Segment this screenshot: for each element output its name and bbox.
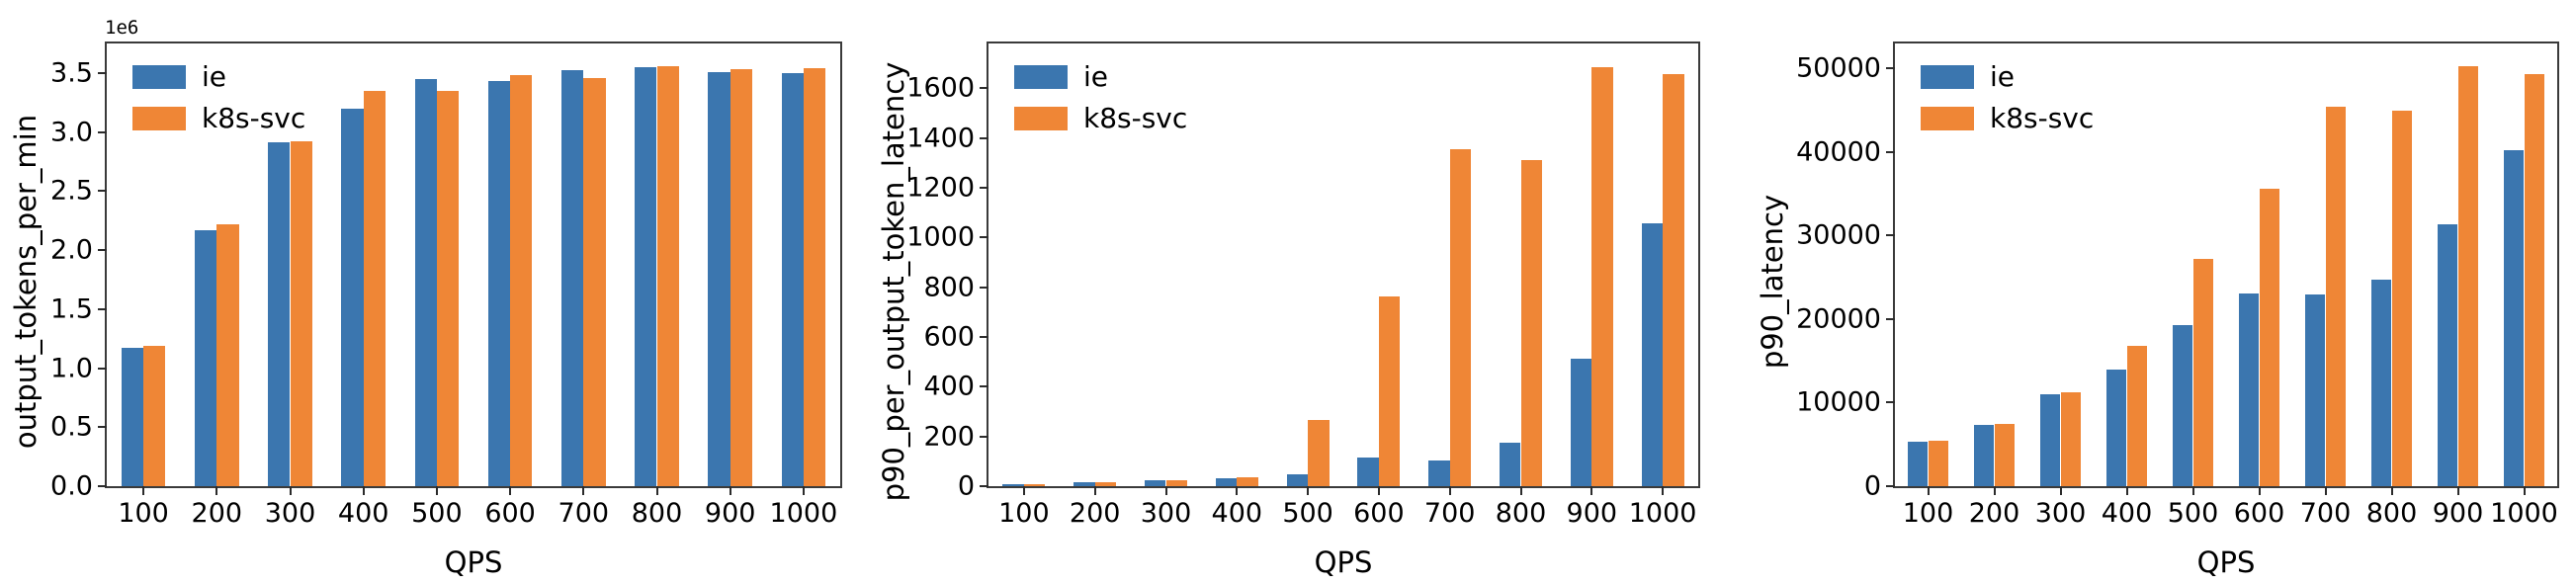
y-tick-label-p1-4: 2.0 xyxy=(50,237,93,264)
plot-area-3: 0100002000030000400005000010020030040050… xyxy=(1893,42,2559,488)
y-tick-label-p2-6: 1200 xyxy=(906,174,975,201)
y-tick-label-p1-7: 3.5 xyxy=(50,59,93,86)
bar-ie-900 xyxy=(2438,224,2457,486)
legend-entry-ie-1: ie xyxy=(132,63,305,91)
bar-ie-900 xyxy=(1571,359,1592,486)
legend-swatch-k8s-svc-2 xyxy=(1014,107,1068,130)
x-tick-label-p1-0: 100 xyxy=(118,500,169,527)
legend-label-k8s-svc-1: k8s-svc xyxy=(202,105,305,132)
bar-ie-100 xyxy=(1002,484,1024,486)
bar-ie-400 xyxy=(1216,478,1238,486)
x-tick-label-p2-7: 800 xyxy=(1496,500,1547,527)
x-tick-p1-0 xyxy=(142,486,144,495)
bar-ie-600 xyxy=(488,81,510,486)
x-tick-p3-3 xyxy=(2126,486,2128,495)
x-tick-label-p1-6: 700 xyxy=(558,500,610,527)
bar-ie-700 xyxy=(561,70,583,486)
y-tick-p1-1 xyxy=(98,426,107,428)
bar-ie-300 xyxy=(2040,394,2060,486)
y-tick-label-p1-3: 1.5 xyxy=(50,295,93,322)
y-tick-p2-3 xyxy=(980,336,988,338)
y-tick-p2-8 xyxy=(980,87,988,89)
y-tick-p2-6 xyxy=(980,187,988,189)
y-tick-p1-0 xyxy=(98,485,107,487)
bar-k8s-svc-300 xyxy=(291,141,312,486)
x-tick-label-p2-2: 300 xyxy=(1141,500,1192,527)
legend-label-ie-3: ie xyxy=(1990,63,2015,91)
bar-ie-500 xyxy=(2173,325,2192,486)
bar-k8s-svc-700 xyxy=(583,78,605,486)
bar-k8s-svc-900 xyxy=(1591,67,1613,486)
bar-ie-900 xyxy=(708,72,730,486)
y-tick-p1-5 xyxy=(98,190,107,192)
legend-entry-ie-3: ie xyxy=(1921,63,2094,91)
plot-area-1: 0.00.51.01.52.02.53.03.51002003004005006… xyxy=(105,42,842,488)
x-tick-p1-3 xyxy=(363,486,365,495)
y-tick-p2-0 xyxy=(980,485,988,487)
x-tick-label-p3-7: 800 xyxy=(2366,500,2418,527)
x-axis-label-2: QPS xyxy=(987,545,1700,579)
y-tick-label-p3-0: 0 xyxy=(1864,473,1881,500)
legend-swatch-k8s-svc-1 xyxy=(132,107,186,130)
x-tick-label-p1-9: 1000 xyxy=(770,500,838,527)
y-axis-label-2: p90_per_output_token_latency xyxy=(877,35,910,529)
legend-label-ie-1: ie xyxy=(202,63,226,91)
x-tick-label-p3-3: 400 xyxy=(2102,500,2153,527)
y-tick-label-p2-5: 1000 xyxy=(906,224,975,251)
y-tick-p2-5 xyxy=(980,236,988,238)
bar-ie-300 xyxy=(268,142,290,486)
bar-ie-500 xyxy=(1287,474,1309,486)
y-tick-label-p1-6: 3.0 xyxy=(50,119,93,145)
bar-k8s-svc-600 xyxy=(1379,296,1401,486)
legend-label-ie-2: ie xyxy=(1083,63,1108,91)
y-tick-p2-2 xyxy=(980,385,988,387)
legend-swatch-k8s-svc-3 xyxy=(1921,107,1974,130)
y-tick-p1-7 xyxy=(98,72,107,74)
bar-ie-700 xyxy=(1428,460,1450,486)
x-tick-p2-4 xyxy=(1307,486,1309,495)
bar-ie-200 xyxy=(1974,425,1994,486)
y-tick-p3-5 xyxy=(1886,67,1895,69)
bar-ie-1000 xyxy=(2504,150,2524,486)
bar-k8s-svc-400 xyxy=(364,91,386,486)
x-tick-p1-9 xyxy=(803,486,805,495)
x-tick-p3-1 xyxy=(1994,486,1996,495)
x-tick-p1-6 xyxy=(582,486,584,495)
bar-k8s-svc-700 xyxy=(2326,107,2346,486)
legend-label-k8s-svc-2: k8s-svc xyxy=(1083,105,1187,132)
x-tick-label-p2-5: 600 xyxy=(1353,500,1405,527)
bar-k8s-svc-300 xyxy=(2061,392,2081,486)
x-tick-p2-3 xyxy=(1236,486,1238,495)
bar-k8s-svc-200 xyxy=(216,224,238,486)
x-tick-label-p2-6: 700 xyxy=(1424,500,1476,527)
bar-ie-500 xyxy=(415,79,437,486)
legend-entry-ie-2: ie xyxy=(1014,63,1187,91)
x-tick-label-p1-8: 900 xyxy=(705,500,756,527)
bar-k8s-svc-500 xyxy=(437,91,459,486)
bar-k8s-svc-800 xyxy=(1521,160,1543,486)
x-tick-label-p1-3: 400 xyxy=(338,500,389,527)
bar-k8s-svc-500 xyxy=(1308,420,1330,486)
x-axis-label-1: QPS xyxy=(105,545,842,579)
x-tick-label-p3-0: 100 xyxy=(1903,500,1954,527)
y-tick-label-p2-7: 1400 xyxy=(906,125,975,151)
bar-ie-300 xyxy=(1145,480,1166,486)
bar-ie-800 xyxy=(1500,443,1521,486)
bar-k8s-svc-100 xyxy=(1024,484,1046,486)
bar-k8s-svc-900 xyxy=(2458,66,2478,486)
x-tick-label-p2-4: 500 xyxy=(1282,500,1333,527)
bar-k8s-svc-300 xyxy=(1166,480,1188,486)
y-tick-label-p3-3: 30000 xyxy=(1796,222,1881,249)
x-tick-p3-9 xyxy=(2524,486,2526,495)
subplot-output-tokens-per-min: 1e6 output_tokens_per_min 0.00.51.01.52.… xyxy=(0,0,858,585)
y-tick-label-p2-4: 800 xyxy=(923,274,975,300)
subplot-p90-per-output-token-latency: p90_per_output_token_latency 02004006008… xyxy=(858,0,1717,585)
y-tick-p3-2 xyxy=(1886,318,1895,320)
y-tick-label-p3-4: 40000 xyxy=(1796,138,1881,165)
x-tick-label-p1-4: 500 xyxy=(411,500,463,527)
bar-ie-400 xyxy=(2106,370,2126,486)
y-tick-label-p1-2: 1.0 xyxy=(50,355,93,381)
y-tick-p3-0 xyxy=(1886,485,1895,487)
x-tick-p2-2 xyxy=(1165,486,1167,495)
bar-k8s-svc-800 xyxy=(2392,111,2412,486)
x-tick-p1-5 xyxy=(509,486,511,495)
legend-label-k8s-svc-3: k8s-svc xyxy=(1990,105,2094,132)
x-tick-label-p3-6: 700 xyxy=(2300,500,2352,527)
bar-k8s-svc-600 xyxy=(2260,189,2279,486)
x-tick-label-p1-2: 300 xyxy=(265,500,316,527)
y-tick-p1-6 xyxy=(98,131,107,133)
x-tick-p2-1 xyxy=(1094,486,1096,495)
legend-swatch-ie-2 xyxy=(1014,65,1068,89)
y-tick-p1-3 xyxy=(98,308,107,310)
x-tick-p1-7 xyxy=(656,486,658,495)
y-tick-p1-4 xyxy=(98,249,107,251)
bar-k8s-svc-500 xyxy=(2193,259,2213,486)
legend-entry-k8s-svc-3: k8s-svc xyxy=(1921,105,2094,132)
y-tick-p3-4 xyxy=(1886,151,1895,153)
x-tick-label-p3-5: 600 xyxy=(2234,500,2285,527)
y-tick-label-p1-0: 0.0 xyxy=(50,473,93,500)
y-tick-p2-1 xyxy=(980,436,988,438)
y-tick-label-p2-3: 600 xyxy=(923,323,975,350)
y-tick-label-p2-0: 0 xyxy=(958,473,975,500)
y-offset-text-1: 1e6 xyxy=(105,17,138,39)
x-tick-p1-4 xyxy=(436,486,438,495)
x-tick-label-p3-4: 500 xyxy=(2168,500,2219,527)
x-tick-label-p3-1: 200 xyxy=(1969,500,2020,527)
bar-k8s-svc-600 xyxy=(510,75,532,486)
y-axis-label-3: p90_latency xyxy=(1756,124,1789,440)
x-tick-label-p2-9: 1000 xyxy=(1629,500,1697,527)
y-axis-label-1: output_tokens_per_min xyxy=(9,64,43,499)
x-tick-label-p3-8: 900 xyxy=(2433,500,2484,527)
x-tick-label-p3-9: 1000 xyxy=(2490,500,2558,527)
x-tick-label-p2-0: 100 xyxy=(998,500,1050,527)
bar-k8s-svc-200 xyxy=(1995,424,2015,486)
y-tick-p2-4 xyxy=(980,287,988,289)
y-tick-label-p2-8: 1600 xyxy=(906,75,975,102)
subplot-p90-latency: p90_latency 0100002000030000400005000010… xyxy=(1717,0,2576,585)
x-tick-p2-9 xyxy=(1662,486,1664,495)
bar-ie-1000 xyxy=(782,73,804,486)
legend-swatch-ie-3 xyxy=(1921,65,1974,89)
plot-area-2: 0200400600800100012001400160010020030040… xyxy=(987,42,1700,488)
bar-ie-200 xyxy=(195,230,216,486)
x-tick-p1-1 xyxy=(215,486,217,495)
x-tick-p1-2 xyxy=(290,486,292,495)
x-tick-label-p1-7: 800 xyxy=(632,500,683,527)
y-tick-label-p1-1: 0.5 xyxy=(50,414,93,441)
x-tick-p2-5 xyxy=(1378,486,1380,495)
y-tick-p3-3 xyxy=(1886,234,1895,236)
bar-ie-800 xyxy=(2371,280,2391,486)
bar-ie-1000 xyxy=(1642,223,1664,486)
bar-ie-400 xyxy=(341,109,363,486)
legend-swatch-ie-1 xyxy=(132,65,186,89)
bar-ie-600 xyxy=(2239,293,2259,486)
x-tick-p2-6 xyxy=(1449,486,1451,495)
x-tick-p3-7 xyxy=(2391,486,2393,495)
bar-k8s-svc-400 xyxy=(1237,477,1258,486)
bar-k8s-svc-1000 xyxy=(1663,74,1684,486)
legend-entry-k8s-svc-2: k8s-svc xyxy=(1014,105,1187,132)
x-tick-p3-5 xyxy=(2259,486,2261,495)
x-tick-label-p2-3: 400 xyxy=(1212,500,1263,527)
bar-k8s-svc-400 xyxy=(2127,346,2147,486)
bar-k8s-svc-700 xyxy=(1450,149,1472,486)
y-tick-label-p2-2: 400 xyxy=(923,374,975,400)
x-tick-label-p3-2: 300 xyxy=(2035,500,2087,527)
y-tick-label-p2-1: 200 xyxy=(923,423,975,450)
bar-k8s-svc-100 xyxy=(1929,441,1948,486)
x-tick-p3-6 xyxy=(2325,486,2327,495)
x-tick-p3-4 xyxy=(2192,486,2194,495)
x-tick-label-p1-1: 200 xyxy=(192,500,243,527)
x-tick-p2-0 xyxy=(1023,486,1025,495)
y-tick-p3-1 xyxy=(1886,401,1895,403)
y-tick-label-p3-1: 10000 xyxy=(1796,389,1881,416)
bar-k8s-svc-200 xyxy=(1095,482,1117,486)
x-tick-label-p1-5: 600 xyxy=(484,500,536,527)
bar-k8s-svc-900 xyxy=(730,69,752,486)
legend-1: ie k8s-svc xyxy=(132,63,305,132)
x-axis-label-3: QPS xyxy=(1893,545,2559,579)
bar-k8s-svc-800 xyxy=(657,66,679,486)
y-tick-p1-2 xyxy=(98,368,107,370)
x-tick-p2-7 xyxy=(1520,486,1522,495)
y-tick-p2-7 xyxy=(980,137,988,139)
figure-canvas: 1e6 output_tokens_per_min 0.00.51.01.52.… xyxy=(0,0,2576,585)
legend-3: ie k8s-svc xyxy=(1921,63,2094,132)
x-tick-p3-0 xyxy=(1928,486,1930,495)
bar-k8s-svc-1000 xyxy=(2525,74,2544,486)
y-tick-label-p3-5: 50000 xyxy=(1796,55,1881,82)
x-tick-label-p2-8: 900 xyxy=(1567,500,1618,527)
x-tick-p3-8 xyxy=(2457,486,2459,495)
x-tick-p2-8 xyxy=(1590,486,1592,495)
legend-entry-k8s-svc-1: k8s-svc xyxy=(132,105,305,132)
x-tick-p1-8 xyxy=(730,486,731,495)
legend-2: ie k8s-svc xyxy=(1014,63,1187,132)
x-tick-p3-2 xyxy=(2060,486,2062,495)
bar-k8s-svc-100 xyxy=(143,346,165,486)
bar-ie-700 xyxy=(2305,294,2325,486)
y-tick-label-p1-5: 2.5 xyxy=(50,178,93,205)
y-tick-label-p3-2: 20000 xyxy=(1796,305,1881,332)
bar-k8s-svc-1000 xyxy=(804,68,825,486)
bar-ie-600 xyxy=(1357,458,1379,486)
x-tick-label-p2-1: 200 xyxy=(1070,500,1121,527)
bar-ie-200 xyxy=(1073,482,1095,486)
bar-ie-800 xyxy=(635,67,656,486)
bar-ie-100 xyxy=(122,348,143,486)
bar-ie-100 xyxy=(1908,442,1928,486)
